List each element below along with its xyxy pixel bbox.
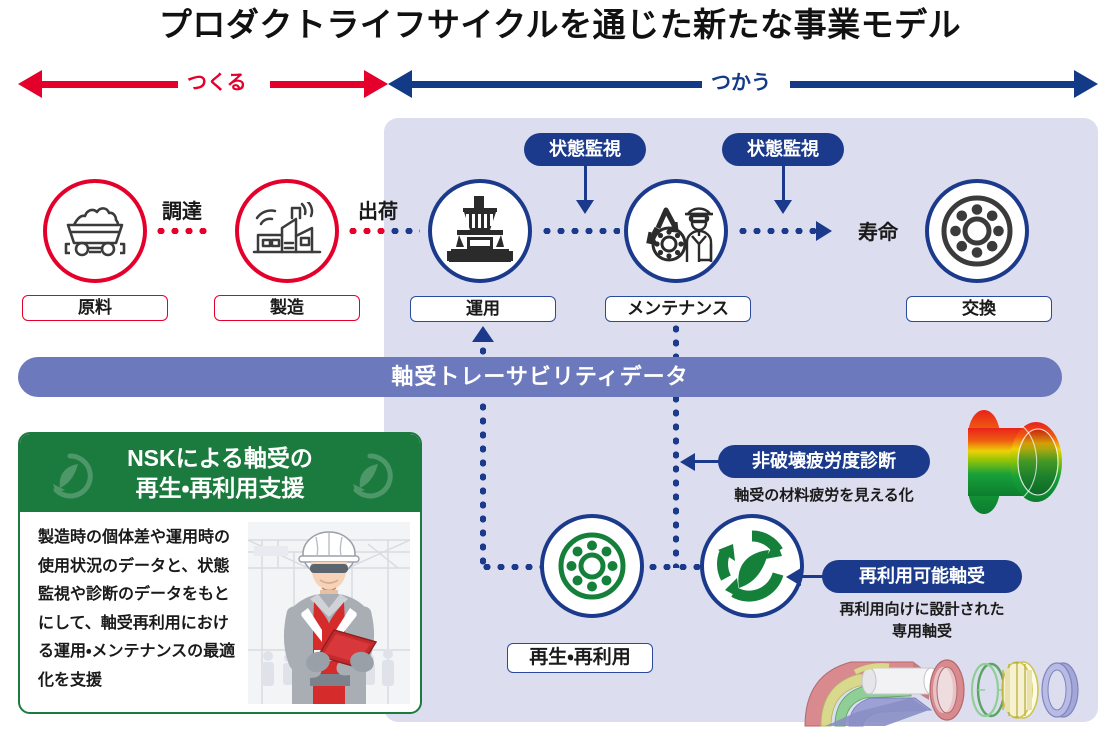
node-icon-manufacture xyxy=(235,179,339,283)
smart-factory-icon xyxy=(252,202,322,260)
connector-manufacture-to-operation-red xyxy=(346,228,388,234)
arrowhead-nondestructive xyxy=(680,453,695,471)
arrow-bar-right-red xyxy=(270,81,366,88)
arrowhead-reusable xyxy=(786,568,801,586)
annotation-reusable-sub-1: 再利用向けに設計された xyxy=(800,598,1044,619)
stem-nondestructive xyxy=(694,460,720,463)
connector-arrowhead-lifespan xyxy=(816,221,832,241)
arrow-bar-right-navy xyxy=(790,81,1076,88)
badge-stem-1 xyxy=(584,166,587,204)
caption-manufacture: 製造 xyxy=(214,295,360,321)
node-icon-maintenance xyxy=(624,179,728,283)
loop-arrowhead-to-operation xyxy=(472,326,494,342)
node-icon-reuse xyxy=(700,514,804,618)
recycle-leaf-watermark-left xyxy=(44,450,96,509)
fatigue-heatmap-ring-image xyxy=(952,408,1082,521)
arrow-head-left-navy xyxy=(388,70,412,98)
flow-word-procure: 調達 xyxy=(162,195,202,224)
nsk-support-card: NSKによる軸受の 再生・再利用支援 製造時の個体差や運用時の使用状況のデータと… xyxy=(18,432,422,714)
worker-bearing-icon xyxy=(638,198,714,264)
phase-arrow-use: つかう xyxy=(388,62,1100,106)
caption-maintenance: メンテナンス xyxy=(605,296,751,322)
arrow-head-right-navy xyxy=(1074,70,1098,98)
badge-condition-monitoring-2[interactable]: 状態監視 xyxy=(722,133,844,166)
node-icon-operation xyxy=(428,179,532,283)
recycle-leaf-watermark-right xyxy=(344,450,396,509)
caption-replacement: 交換 xyxy=(906,296,1052,322)
green-bearing-icon xyxy=(552,526,632,606)
nsk-card-header: NSKによる軸受の 再生・再利用支援 xyxy=(20,434,420,512)
badge-arrow-2 xyxy=(774,200,792,214)
nsk-card-body: 製造時の個体差や運用時の使用状況のデータと、状態監視や診断のデータをもとにして、… xyxy=(20,512,420,714)
badge-nondestructive-diagnosis[interactable]: 非破壊疲労度診断 xyxy=(718,445,930,478)
caption-material: 原料 xyxy=(22,295,168,321)
arrow-bar-left-navy xyxy=(410,81,710,88)
annotation-nondestructive-sub: 軸受の材料疲労を見える化 xyxy=(718,484,930,505)
phase-arrow-make: つくる xyxy=(18,62,388,106)
mining-cart-icon xyxy=(60,203,130,259)
connector-manufacture-to-operation-navy xyxy=(388,228,420,234)
badge-condition-monitoring-1[interactable]: 状態監視 xyxy=(524,133,646,166)
nsk-body-text: 製造時の個体差や運用時の使用状況のデータと、状態監視や診断のデータをもとにして、… xyxy=(38,524,243,695)
worker-with-tablet-illustration xyxy=(248,522,410,704)
node-icon-remanufacture xyxy=(540,514,644,618)
caption-remanufacture: 再生・再利用 xyxy=(507,643,653,673)
connector-maintenance-to-lifespan xyxy=(736,228,816,234)
recycle-leaf-icon xyxy=(714,528,790,604)
bearing-icon xyxy=(937,191,1017,271)
badge-reusable-bearing[interactable]: 再利用可能軸受 xyxy=(822,560,1022,593)
nsk-heading-line2: 再生・再利用支援 xyxy=(136,473,305,503)
badge-arrow-1 xyxy=(576,200,594,214)
flow-word-lifespan: 寿命 xyxy=(858,216,898,245)
page-title: プロダクトライフサイクルを通じた新たな事業モデル xyxy=(0,2,1120,48)
arrow-head-left-red xyxy=(18,70,42,98)
phase-label-make: つくる xyxy=(178,62,256,104)
node-icon-replacement xyxy=(925,179,1029,283)
arrow-head-right-red xyxy=(364,70,388,98)
traceability-band: 軸受トレーサビリティデータ xyxy=(18,357,1062,397)
exploded-bearing-parts-image xyxy=(795,638,1085,735)
node-icon-material xyxy=(43,179,147,283)
connector-material-to-manufacture xyxy=(154,228,212,234)
flow-word-ship: 出荷 xyxy=(358,195,398,224)
nsk-heading-line1: NSKによる軸受の xyxy=(127,443,313,473)
badge-stem-2 xyxy=(782,166,785,204)
connector-operation-to-maintenance xyxy=(540,228,620,234)
stem-reusable xyxy=(800,575,824,578)
phase-label-use: つかう xyxy=(702,62,780,104)
arrow-bar-left-red xyxy=(40,81,190,88)
loop-horizontal-left xyxy=(480,564,542,570)
caption-operation: 運用 xyxy=(410,296,556,322)
mining-machine-icon xyxy=(443,194,517,268)
